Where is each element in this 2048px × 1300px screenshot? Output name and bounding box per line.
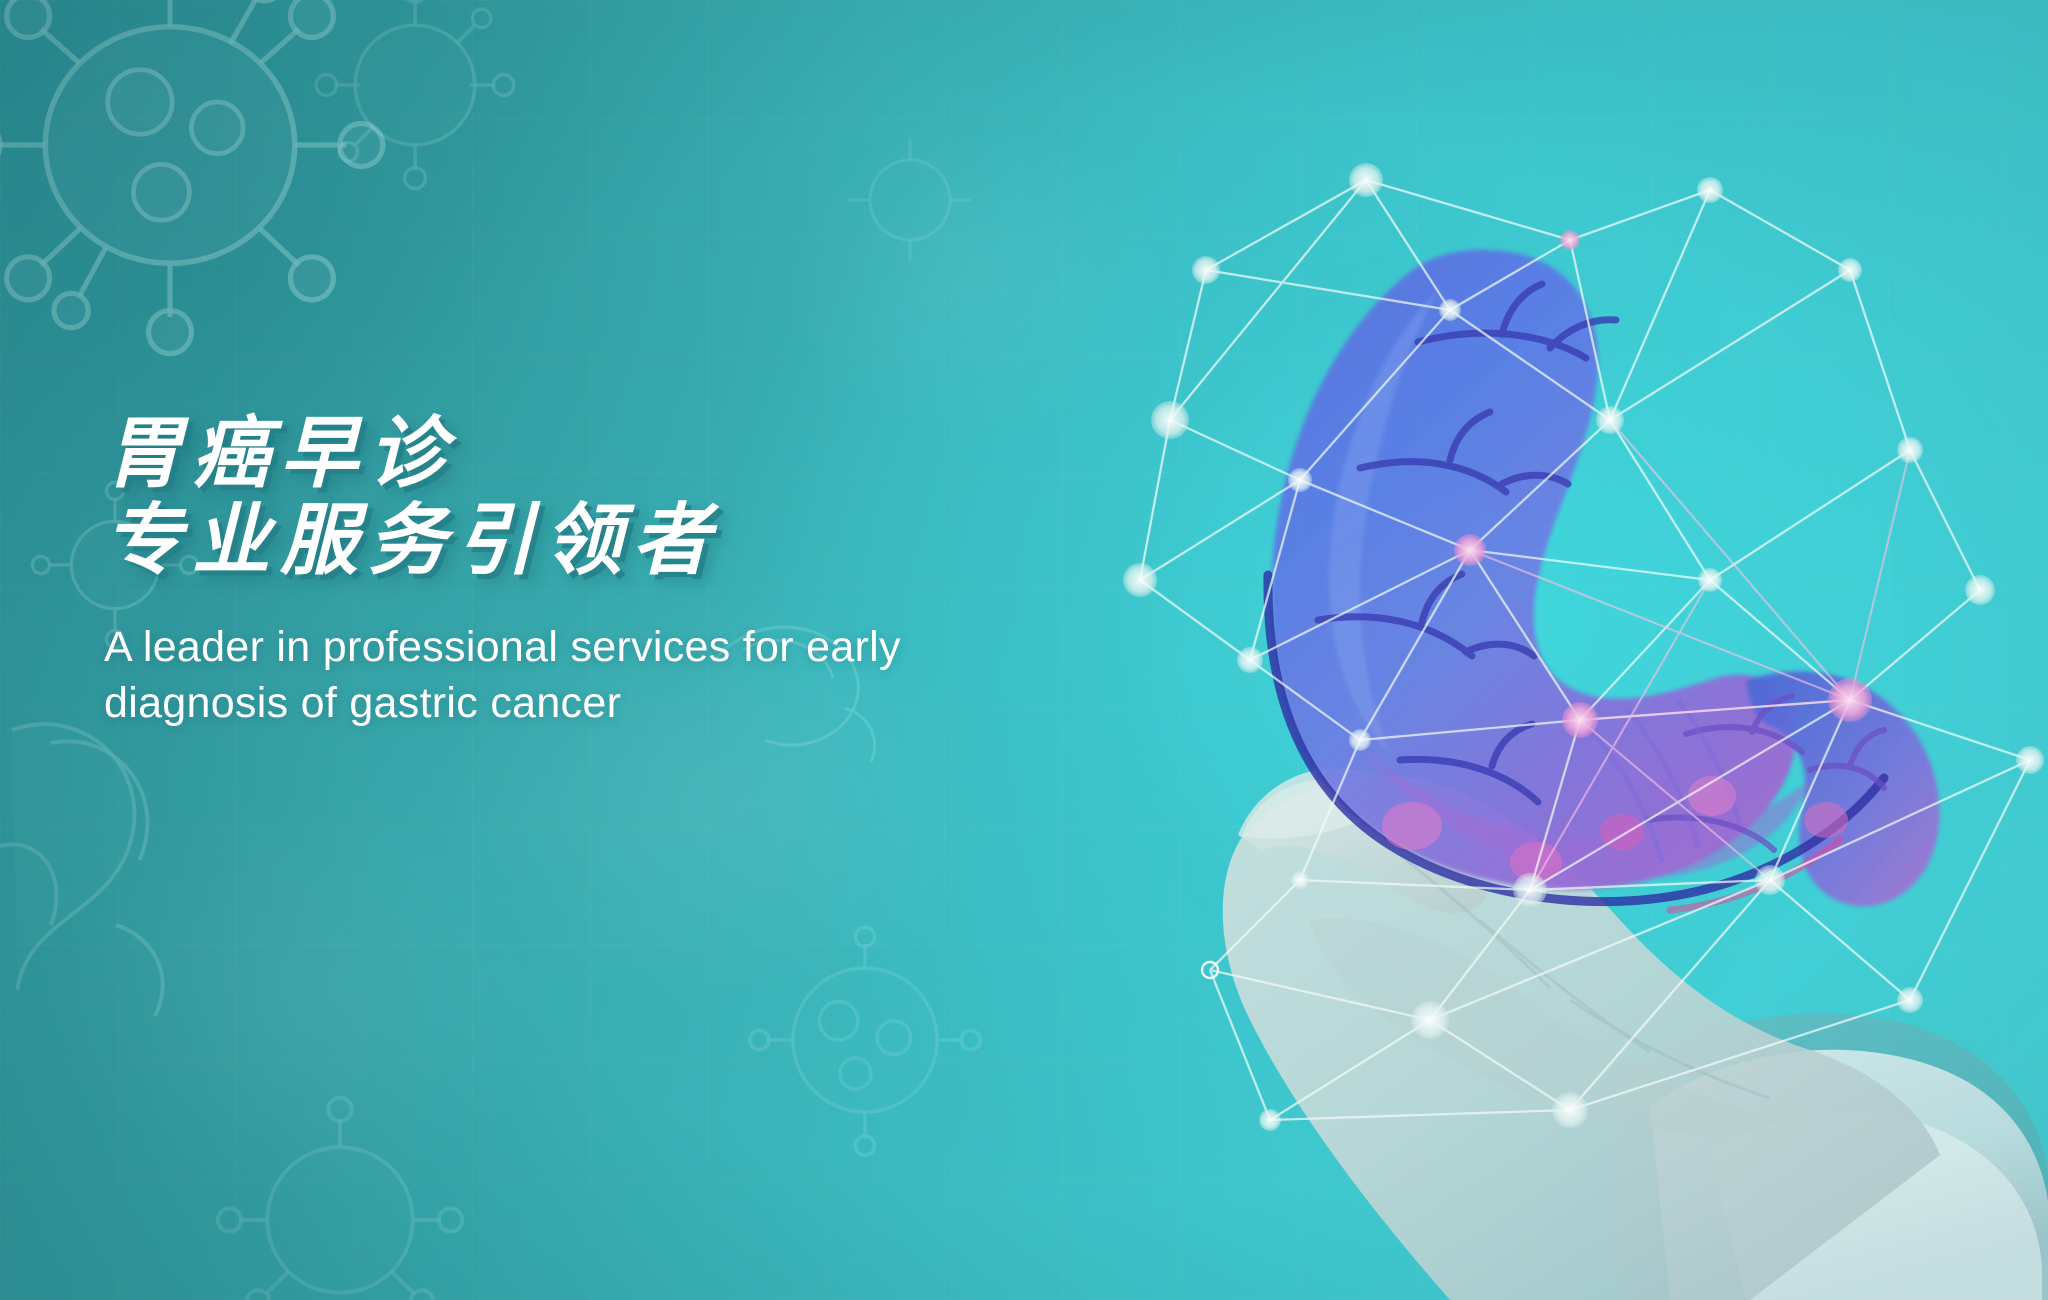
banner-copy: 胃癌早诊 专业服务引领者 A leader in professional se…	[104, 410, 1104, 732]
banner-root: 胃癌早诊 专业服务引领者 A leader in professional se…	[0, 0, 2048, 1300]
headline-line-1: 胃癌早诊	[104, 410, 1104, 497]
subtitle-line-1: A leader in professional services for ea…	[104, 619, 1104, 676]
headline-line-2: 专业服务引领者	[104, 497, 1104, 584]
subtitle-line-2: diagnosis of gastric cancer	[104, 675, 1104, 732]
polygon-network-overlay	[1150, 120, 2048, 1300]
subtitle: A leader in professional services for ea…	[104, 619, 1104, 733]
hero-illustration	[1150, 120, 2048, 1300]
